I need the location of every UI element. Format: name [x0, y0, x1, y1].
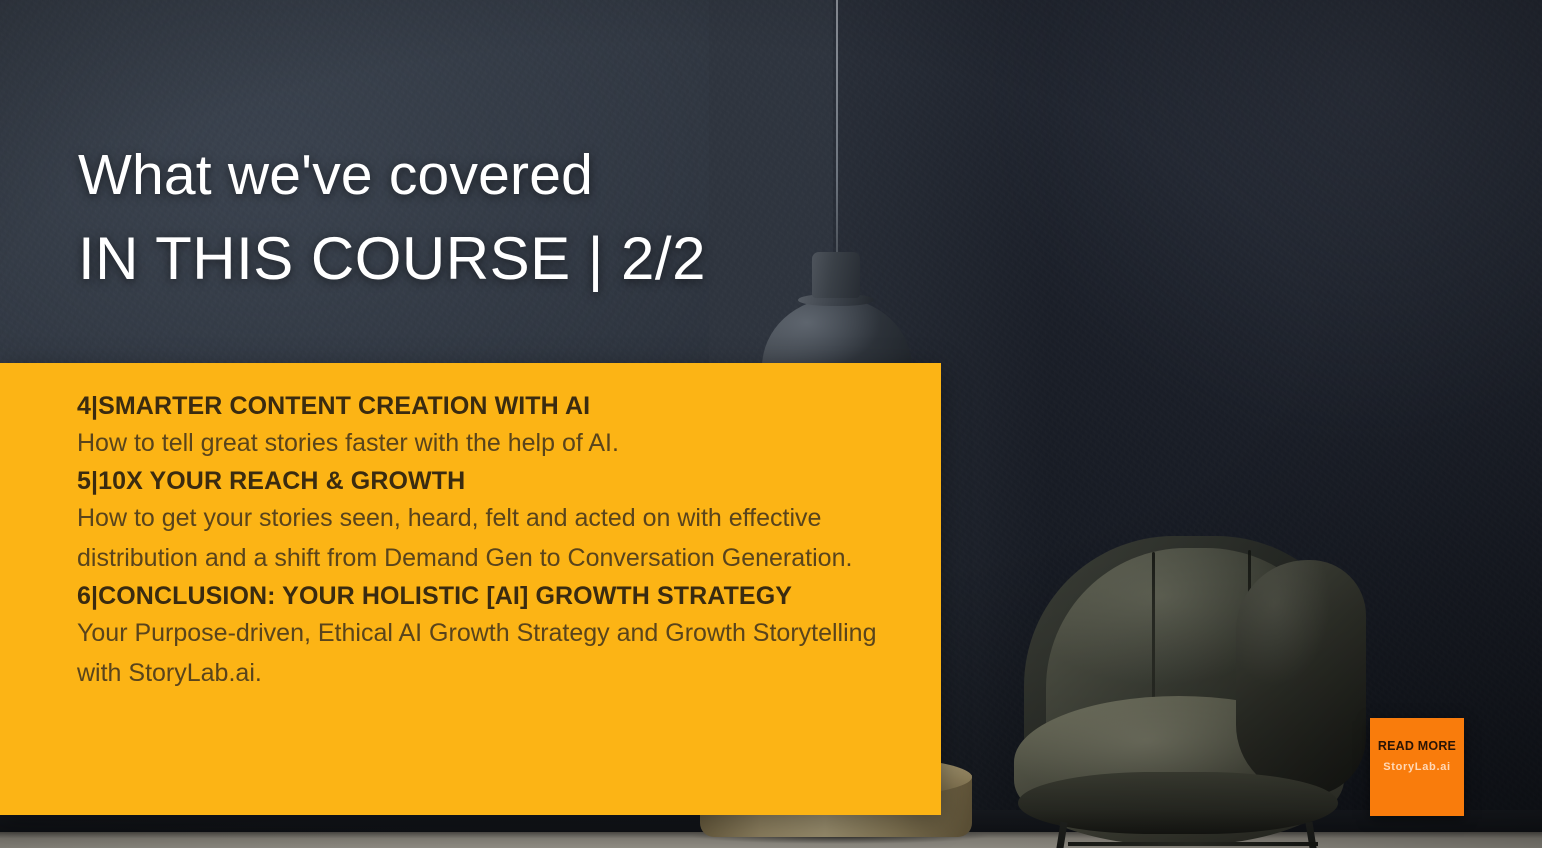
content-item-5-heading: 5|10X YOUR REACH & GROWTH	[77, 464, 897, 498]
content-panel: 4|SMARTER CONTENT CREATION WITH AI How t…	[0, 363, 941, 815]
slide-title-line-2: IN THIS COURSE | 2/2	[78, 227, 858, 290]
content-item-6-heading: 6|CONCLUSION: YOUR HOLISTIC [AI] GROWTH …	[77, 579, 897, 613]
read-more-badge[interactable]: READ MORE StoryLab.ai	[1370, 718, 1464, 816]
slide-canvas: What we've covered IN THIS COURSE | 2/2 …	[0, 0, 1542, 848]
content-item-6: 6|CONCLUSION: YOUR HOLISTIC [AI] GROWTH …	[77, 579, 897, 694]
content-item-6-description: Your Purpose-driven, Ethical AI Growth S…	[77, 613, 887, 694]
slide-title-line-1: What we've covered	[78, 146, 858, 205]
content-item-5: 5|10X YOUR REACH & GROWTH How to get you…	[77, 464, 897, 579]
read-more-badge-brand: StoryLab.ai	[1383, 761, 1451, 773]
read-more-badge-title: READ MORE	[1378, 739, 1456, 753]
content-item-4: 4|SMARTER CONTENT CREATION WITH AI How t…	[77, 389, 897, 464]
slide-title-block: What we've covered IN THIS COURSE | 2/2	[78, 146, 858, 290]
content-item-4-description: How to tell great stories faster with th…	[77, 423, 887, 464]
content-item-4-heading: 4|SMARTER CONTENT CREATION WITH AI	[77, 389, 897, 423]
content-item-5-description: How to get your stories seen, heard, fel…	[77, 498, 887, 579]
